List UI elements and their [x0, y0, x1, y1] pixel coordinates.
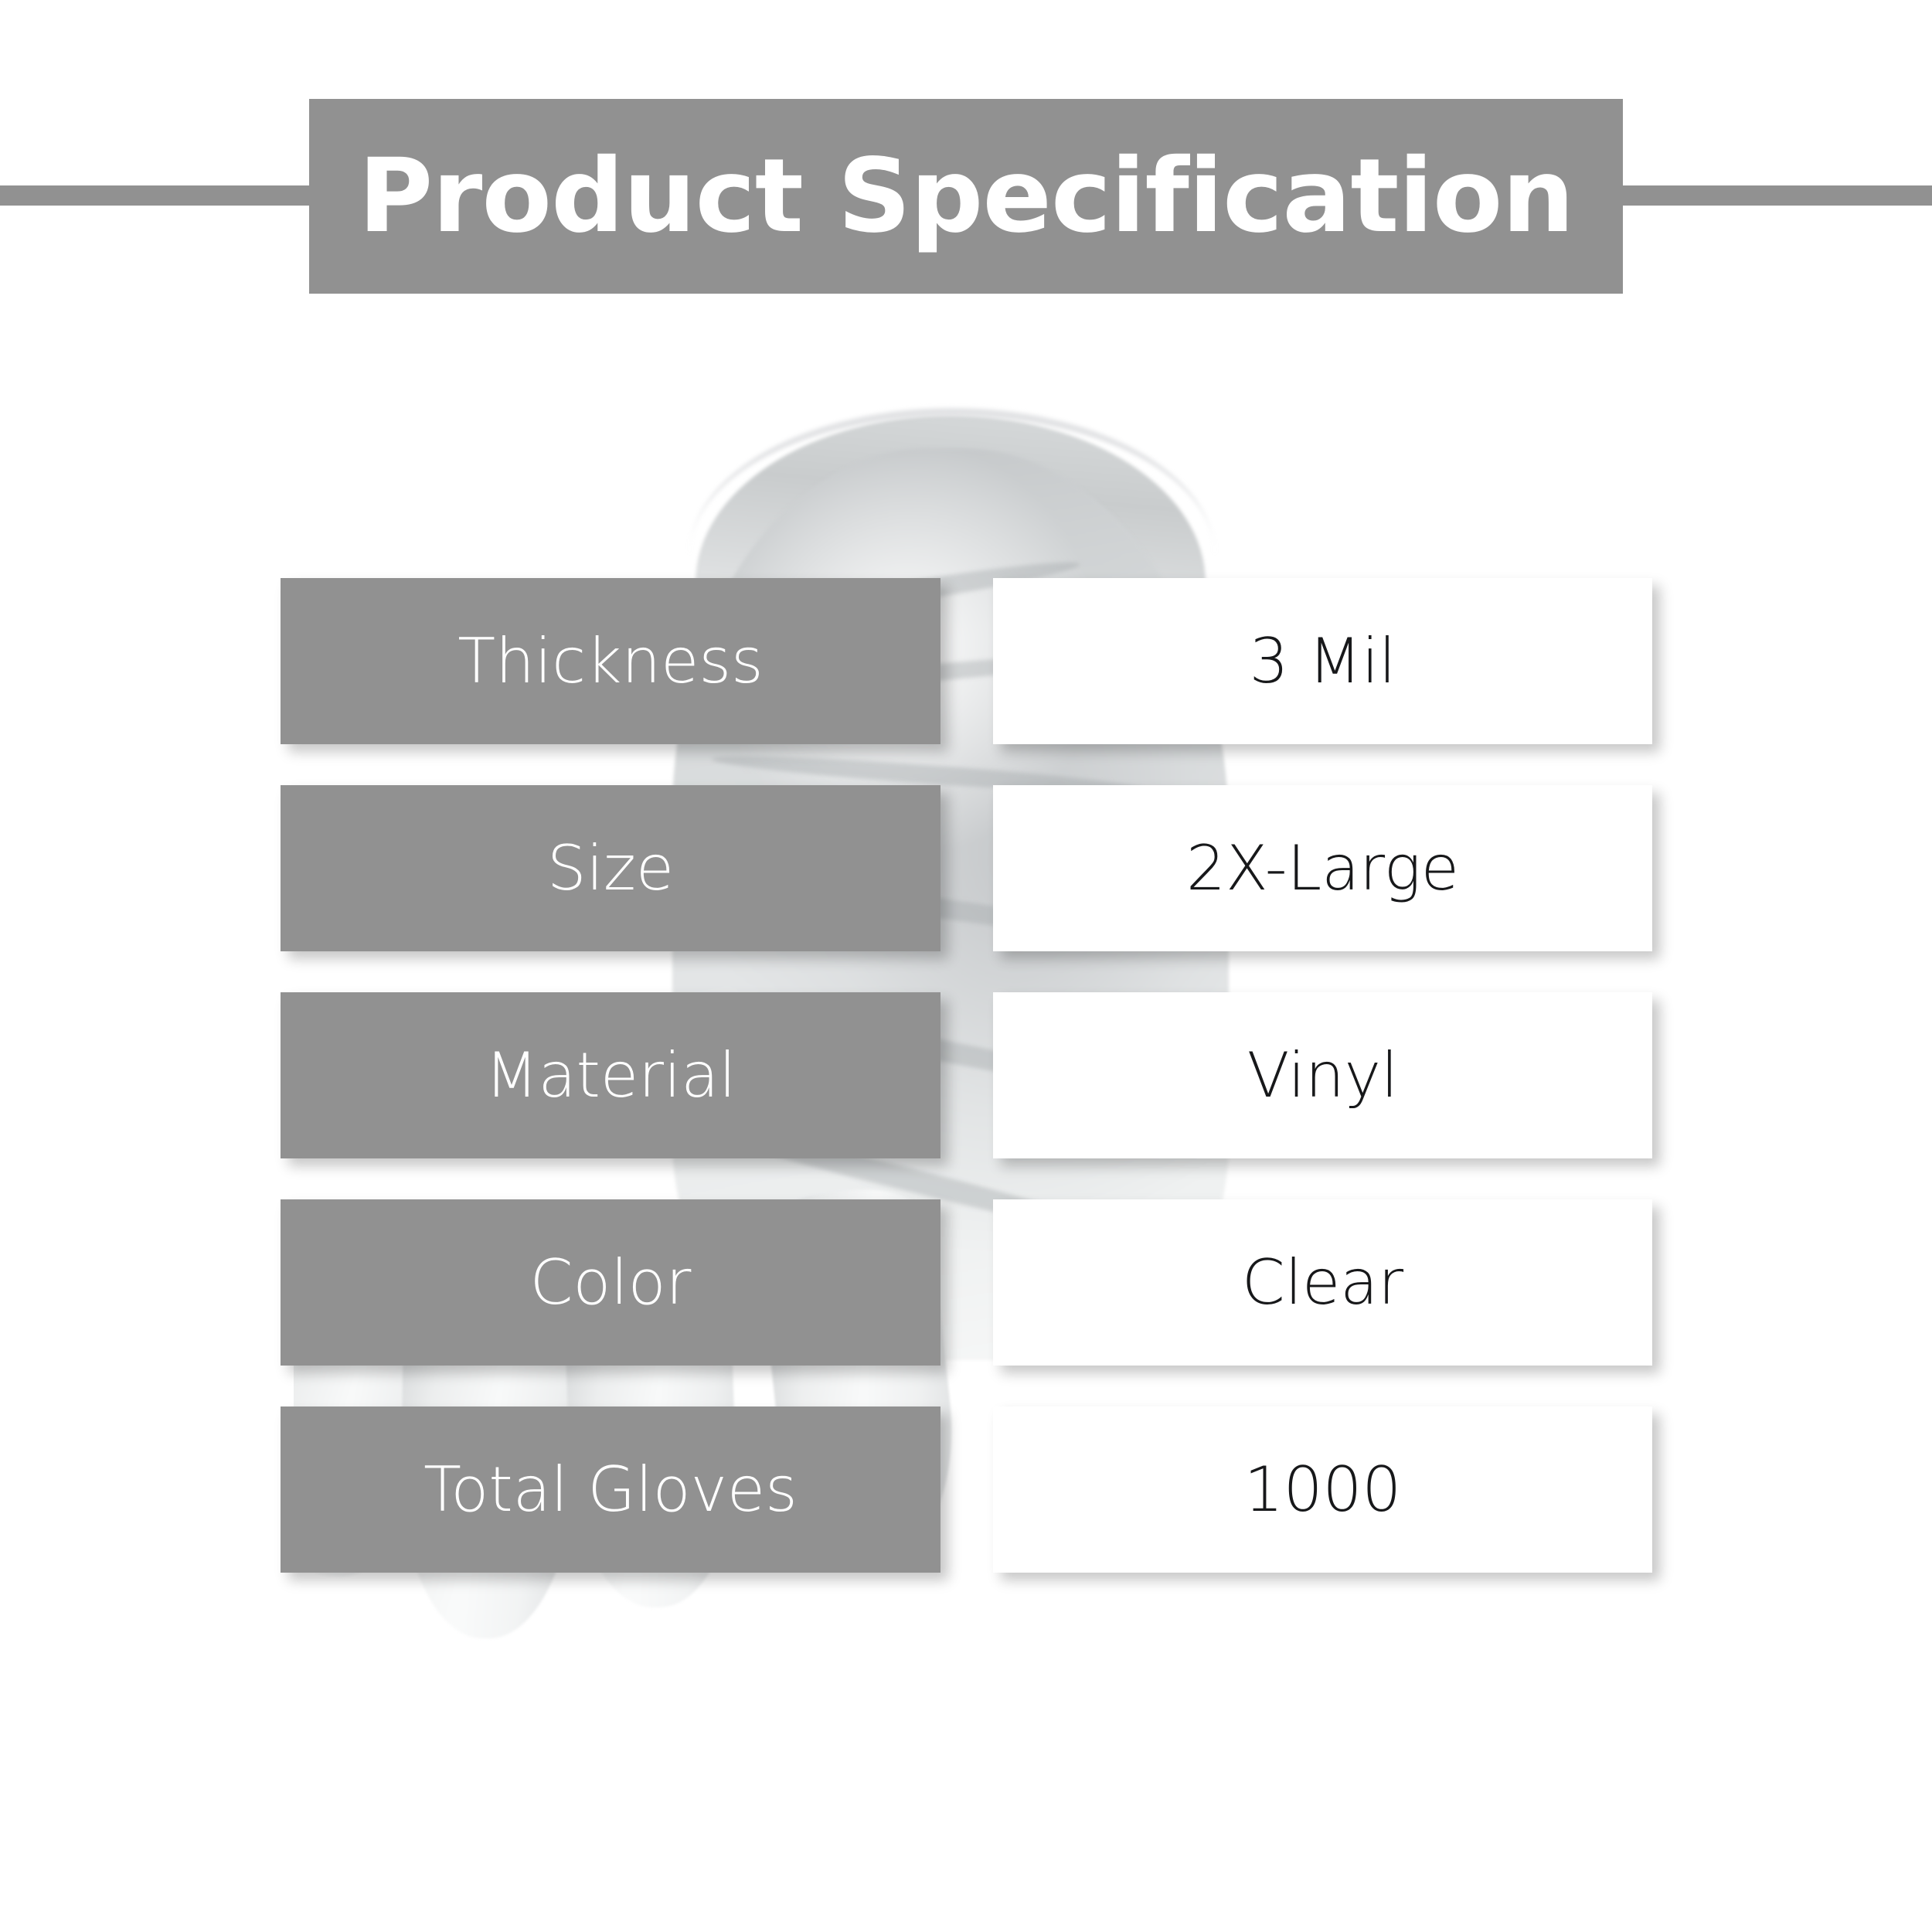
spec-label-text: Total Gloves [423, 1459, 798, 1521]
table-row: Size 2X-Large [281, 785, 1652, 951]
row-gap [940, 992, 993, 1158]
spec-value-size: 2X-Large [993, 785, 1652, 951]
spec-value-material: Vinyl [993, 992, 1652, 1158]
spec-value-text: 1000 [1244, 1459, 1402, 1521]
spec-label-thickness: Thickness [281, 578, 940, 744]
spec-label-text: Size [547, 838, 674, 900]
spec-label-color: Color [281, 1199, 940, 1366]
header-banner: Product Specification [309, 99, 1623, 294]
page-title: Product Specification [359, 145, 1574, 247]
table-row: Total Gloves 1000 [281, 1406, 1652, 1573]
spec-value-text: Clear [1242, 1252, 1403, 1314]
table-row: Material Vinyl [281, 992, 1652, 1158]
table-row: Thickness 3 Mil [281, 578, 1652, 744]
specification-table: Thickness 3 Mil Size 2X-Large Material V… [281, 578, 1652, 1573]
spec-label-total-gloves: Total Gloves [281, 1406, 940, 1573]
row-gap [940, 1199, 993, 1366]
spec-label-text: Color [530, 1252, 692, 1314]
row-gap [940, 578, 993, 744]
spec-label-text: Material [485, 1045, 736, 1107]
spec-value-total-gloves: 1000 [993, 1406, 1652, 1573]
spec-label-material: Material [281, 992, 940, 1158]
spec-label-text: Thickness [457, 631, 763, 692]
row-gap [940, 785, 993, 951]
product-specification-page: Product Specification Thickness 3 Mil Si… [0, 0, 1932, 1932]
spec-value-color: Clear [993, 1199, 1652, 1366]
spec-label-size: Size [281, 785, 940, 951]
glove-cuff-edge [689, 408, 1215, 555]
spec-value-text: 3 Mil [1250, 631, 1396, 692]
spec-value-thickness: 3 Mil [993, 578, 1652, 744]
table-row: Color Clear [281, 1199, 1652, 1366]
spec-value-text: 2X-Large [1186, 838, 1459, 900]
spec-value-text: Vinyl [1247, 1045, 1398, 1107]
row-gap [940, 1406, 993, 1573]
